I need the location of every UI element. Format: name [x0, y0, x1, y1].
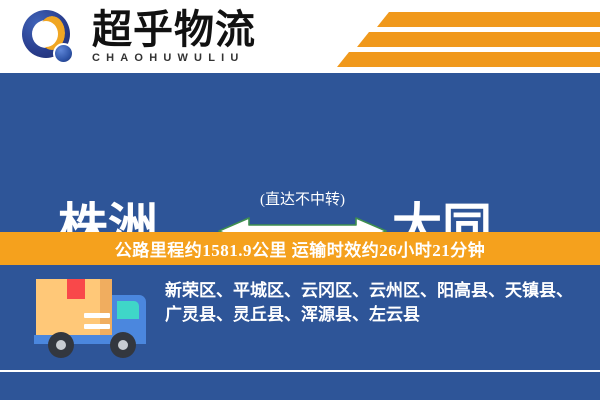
route-info-text: 公路里程约1581.9公里 运输时效约26小时21分钟: [115, 236, 486, 261]
truck-cargo-tape-shape: [67, 279, 85, 299]
decorative-stripe-3: [337, 52, 600, 67]
coverage-districts-text: 新荣区、平城区、云冈区、云州区、阳高县、天镇县、广灵县、灵丘县、浑源县、左云县: [165, 279, 585, 327]
brand-title: 超乎物流: [92, 9, 332, 51]
route-panel: 株洲 (直达不中转) 【往返运输】 大同: [0, 73, 600, 232]
direct-service-label: (直达不中转): [215, 191, 390, 209]
route-info-bar: 公路里程约1581.9公里 运输时效约26小时21分钟: [0, 232, 600, 265]
decorative-stripe-2: [357, 32, 600, 47]
decorative-stripe-1: [377, 12, 600, 27]
truck-rear-hub-shape: [56, 340, 66, 350]
truck-front-hub-shape: [118, 340, 128, 350]
logistics-route-banner: 超乎物流 CHAOHUWULIU 株洲 (直达不中转) 【往返运输】 大同 公路…: [0, 0, 600, 400]
brand-subtitle: CHAOHUWULIU: [92, 52, 332, 65]
brand-text-block: 超乎物流 CHAOHUWULIU: [92, 9, 332, 65]
logo-dot-shape: [53, 43, 74, 64]
circle-crescent-logo-icon: [22, 10, 78, 66]
truck-cargo-line-1-shape: [84, 313, 110, 318]
brand-header: 超乎物流 CHAOHUWULIU: [0, 0, 600, 73]
truck-window-shape: [117, 301, 139, 319]
coverage-panel: 新荣区、平城区、云冈区、云州区、阳高县、天镇县、广灵县、灵丘县、浑源县、左云县: [0, 265, 600, 400]
truck-cargo-line-2-shape: [84, 324, 110, 329]
bottom-divider: [0, 370, 600, 372]
logo-crescent-cutout-shape: [34, 21, 58, 47]
delivery-truck-icon: [28, 273, 164, 365]
